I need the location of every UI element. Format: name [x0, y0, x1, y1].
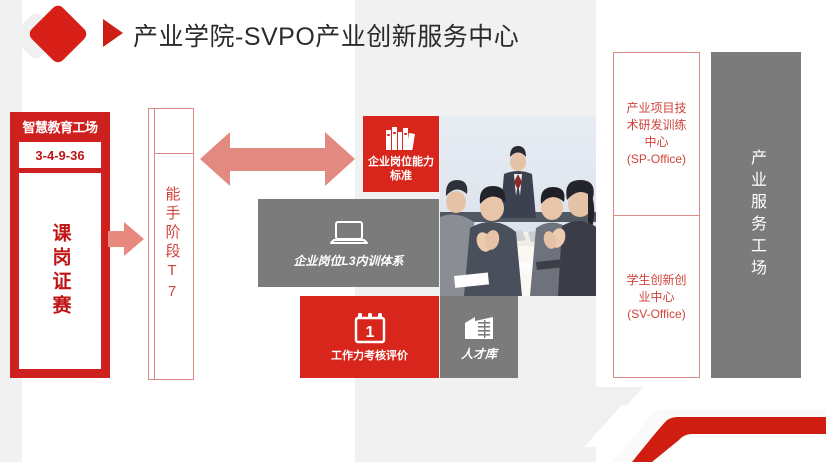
slide-canvas: 产业学院-SVPO产业创新服务中心 智慧教育工场 3-4-9-36 课岗证赛 能… [0, 0, 826, 462]
office-line-3: 中心 [644, 135, 668, 149]
books-icon [384, 126, 418, 150]
service-panel: 产业服务工场 [711, 52, 801, 378]
bottom-decoration [526, 387, 826, 462]
tile-label: 人才库 [457, 347, 501, 361]
office-line-3: (SV-Office) [627, 307, 685, 321]
office-line-4: (SP-Office) [627, 152, 686, 166]
education-panel-title: 智慧教育工场 [17, 118, 103, 138]
play-triangle-icon [103, 19, 123, 47]
tile-label: 工作力考核评价 [327, 349, 412, 363]
stage-column: 能手阶段T7 [148, 108, 194, 380]
office-line-1: 产业项目技 [626, 101, 686, 115]
tile-talent-pool[interactable]: 人才库 [440, 296, 518, 378]
tile-l3-training[interactable]: 企业岗位L3内训体系 [258, 199, 439, 287]
office-cell-sv[interactable]: 学生创新创 业中心 (SV-Office) [614, 216, 699, 378]
service-vertical-label: 产业服务工场 [748, 149, 764, 281]
tile-label: 企业岗位能力标准 [363, 155, 439, 183]
tile-enterprise-standard[interactable]: 企业岗位能力标准 [363, 116, 439, 192]
education-code-badge: 3-4-9-36 [19, 142, 101, 168]
education-vertical-label: 课岗证赛 [51, 223, 70, 319]
office-line-2: 业中心 [638, 290, 674, 304]
logo [8, 6, 128, 64]
meeting-photo-image [440, 116, 596, 296]
stage-vertical-label: 能手阶段T7 [165, 186, 180, 304]
double-headed-arrow-icon [200, 132, 355, 187]
right-arrow-icon [108, 222, 150, 256]
office-column: 产业项目技 术研发训练 中心 (SP-Office) 学生创新创 业中心 (SV… [613, 52, 700, 378]
tile-label: 企业岗位L3内训体系 [289, 254, 407, 268]
meeting-photo [440, 116, 596, 296]
building-icon [462, 314, 496, 342]
education-body: 课岗证赛 [19, 173, 101, 369]
stage-column-text: 能手阶段T7 [149, 109, 195, 381]
office-cell-sp[interactable]: 产业项目技 术研发训练 中心 (SP-Office) [614, 53, 699, 216]
education-panel: 智慧教育工场 3-4-9-36 课岗证赛 [10, 112, 110, 378]
office-line-2: 术研发训练 [626, 118, 686, 132]
page-title: 产业学院-SVPO产业创新服务中心 [133, 17, 519, 53]
calendar-icon: 1 [354, 312, 386, 344]
laptop-icon [329, 219, 369, 249]
svg-text:1: 1 [365, 324, 374, 341]
tile-work-evaluation[interactable]: 1 工作力考核评价 [300, 296, 439, 378]
office-line-1: 学生创新创 [626, 273, 686, 287]
